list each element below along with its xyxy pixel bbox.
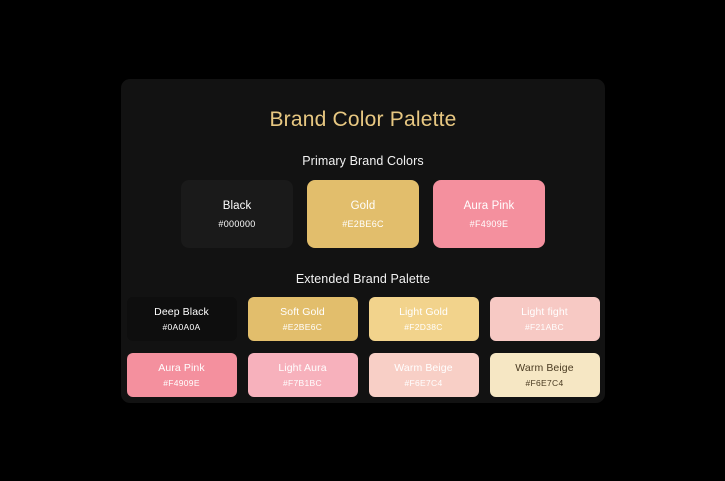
swatch-hex-code: #F7B1BC (283, 378, 322, 388)
swatch-hex-code: #E2BE6C (283, 322, 322, 332)
swatch-hex-code: #F6E7C4 (404, 378, 442, 388)
color-palette-panel: Brand Color Palette Primary Brand Colors… (121, 79, 605, 403)
swatch-hex-code: #F4909E (470, 219, 509, 229)
swatch-name: Deep Black (154, 306, 209, 318)
primary-section-heading: Primary Brand Colors (147, 154, 579, 168)
primary-swatch-row: Black#000000Gold#E2BE6CAura Pink#F4909E (147, 180, 579, 248)
swatch-name: Light fight (521, 306, 568, 318)
color-swatch-card[interactable]: Warm Beige#F6E7C4 (490, 353, 600, 397)
swatch-name: Black (223, 200, 252, 212)
swatch-name: Gold (351, 200, 376, 212)
swatch-name: Light Gold (399, 306, 448, 318)
swatch-hex-code: #0A0A0A (162, 322, 200, 332)
color-swatch-card[interactable]: Light Aura#F7B1BC (248, 353, 358, 397)
swatch-name: Soft Gold (280, 306, 325, 318)
color-swatch-card[interactable]: Light Gold#F2D38C (369, 297, 479, 341)
page-root: Brand Color Palette Primary Brand Colors… (0, 0, 725, 481)
swatch-name: Aura Pink (158, 362, 204, 374)
swatch-name: Light Aura (278, 362, 326, 374)
color-swatch-card[interactable]: Deep Black#0A0A0A (127, 297, 237, 341)
swatch-name: Aura Pink (464, 200, 515, 212)
color-swatch-card[interactable]: Warm Beige#F6E7C4 (369, 353, 479, 397)
color-swatch-card[interactable]: Light fight#F21ABC (490, 297, 600, 341)
extended-section-heading: Extended Brand Palette (147, 272, 579, 286)
color-swatch-card[interactable]: Gold#E2BE6C (307, 180, 419, 248)
swatch-hex-code: #F2D38C (404, 322, 442, 332)
page-title: Brand Color Palette (147, 108, 579, 132)
color-swatch-card[interactable]: Aura Pink#F4909E (433, 180, 545, 248)
swatch-hex-code: #E2BE6C (342, 219, 384, 229)
color-swatch-card[interactable]: Soft Gold#E2BE6C (248, 297, 358, 341)
swatch-hex-code: #F4909E (163, 378, 200, 388)
color-swatch-card[interactable]: Aura Pink#F4909E (127, 353, 237, 397)
swatch-hex-code: #F6E7C4 (525, 378, 563, 388)
extended-swatch-grid: Deep Black#0A0A0ASoft Gold#E2BE6CLight G… (147, 297, 579, 397)
swatch-hex-code: #F21ABC (525, 322, 564, 332)
swatch-name: Warm Beige (515, 362, 573, 374)
color-swatch-card[interactable]: Black#000000 (181, 180, 293, 248)
swatch-hex-code: #000000 (218, 219, 255, 229)
swatch-name: Warm Beige (394, 362, 452, 374)
